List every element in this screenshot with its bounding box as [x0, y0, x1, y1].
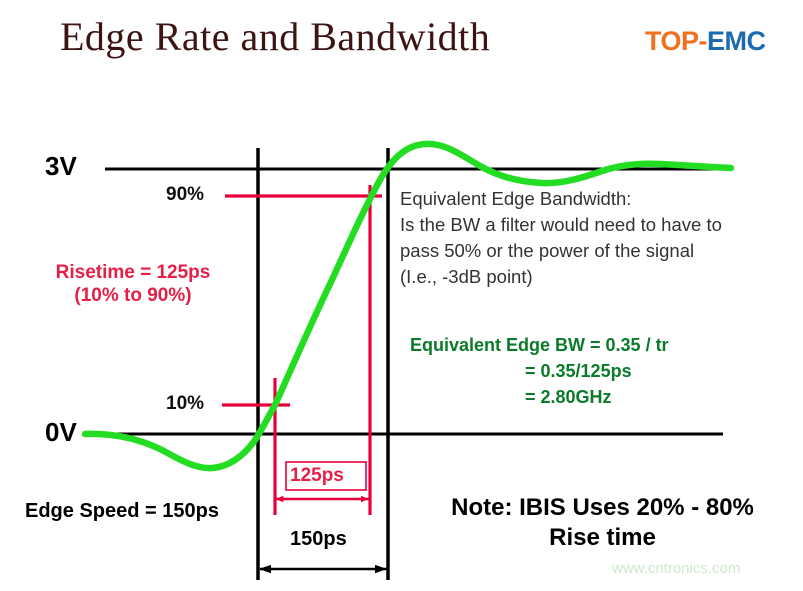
axis-label-90pct: 90% — [166, 184, 204, 206]
axis-label-0v: 0V — [45, 417, 77, 448]
span-150ps-label: 150ps — [290, 528, 347, 551]
site-watermark: www.cntronics.com — [612, 560, 740, 577]
axis-label-3v: 3V — [45, 151, 77, 182]
edge-speed-annotation: Edge Speed = 150ps — [25, 500, 219, 523]
ibis-note-line-2: Rise time — [410, 523, 795, 553]
ibis-note: Note: IBIS Uses 20% - 80% Rise time — [410, 493, 795, 553]
equation-line-1: Equivalent Edge BW = 0.35 / tr — [410, 332, 800, 358]
risetime-line-1: Risetime = 125ps — [18, 261, 248, 284]
equation-line-2: = 0.35/125ps — [410, 358, 800, 384]
bandwidth-line-2: Is the BW a filter would need to have to — [400, 212, 800, 238]
slide-canvas: Edge Rate and Bandwidth TOP-EMC — [0, 0, 803, 591]
equation-block: Equivalent Edge BW = 0.35 / tr = 0.35/12… — [410, 332, 800, 410]
equation-line-3: = 2.80GHz — [410, 384, 800, 410]
risetime-annotation: Risetime = 125ps (10% to 90%) — [18, 261, 248, 307]
bandwidth-description: Equivalent Edge Bandwidth: Is the BW a f… — [400, 186, 800, 290]
risetime-line-2: (10% to 90%) — [18, 284, 248, 307]
span-125ps-label: 125ps — [290, 465, 344, 487]
bandwidth-line-3: pass 50% or the power of the signal — [400, 238, 800, 264]
axis-label-10pct: 10% — [166, 393, 204, 415]
ibis-note-line-1: Note: IBIS Uses 20% - 80% — [410, 493, 795, 523]
bandwidth-line-1: Equivalent Edge Bandwidth: — [400, 186, 800, 212]
bandwidth-line-4: (I.e., -3dB point) — [400, 264, 800, 290]
